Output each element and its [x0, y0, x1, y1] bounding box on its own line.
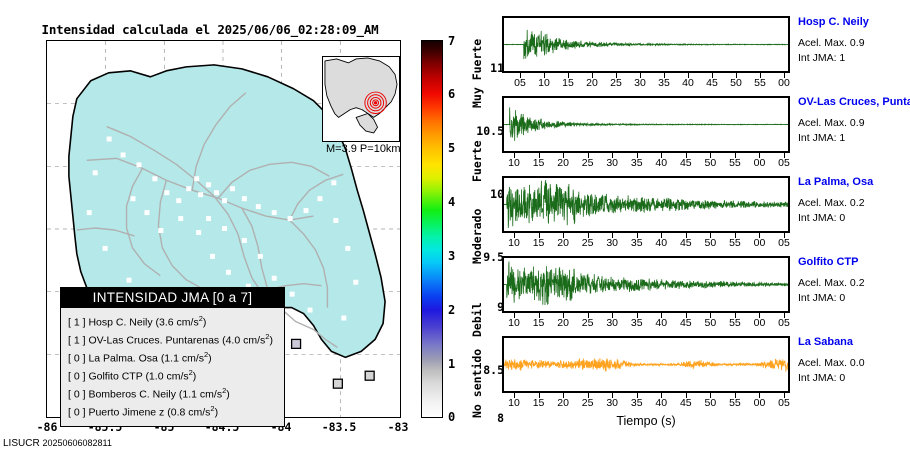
axis-tick-label: 10 — [502, 397, 526, 409]
station-marker — [292, 339, 301, 348]
axis-tick-label: 10 — [532, 77, 556, 89]
colorbar-tick: 3 — [448, 249, 455, 263]
axis-tick-label: 10 — [502, 317, 526, 329]
colorbar-tick: 2 — [448, 303, 455, 317]
legend-station: Puerto Jimene z — [88, 407, 164, 419]
station-info: La Palma, Osa Acel. Max. 0.2 Int JMA: 0 — [798, 176, 906, 226]
station-name: Hosp C. Neily — [798, 16, 906, 29]
axis-tick-label: 45 — [674, 397, 698, 409]
time-axis-label: Tiempo (s) — [502, 414, 790, 428]
axis-tick-label: 20 — [580, 77, 604, 89]
axis-tick-label: 25 — [576, 237, 600, 249]
seismogram-panel[interactable]: 101520253035404550550005 La Palma, Osa A… — [500, 176, 900, 256]
axis-tick-label: 45 — [674, 317, 698, 329]
waveform-plot[interactable] — [502, 256, 790, 313]
axis-tick-label: 45 — [700, 77, 724, 89]
legend-intensity: [ 0 ] — [68, 389, 86, 401]
map-xtick: -83.5 — [314, 420, 364, 434]
max-acceleration: Acel. Max. 0.9 — [798, 116, 906, 131]
axis-tick-label: 25 — [576, 397, 600, 409]
waveform-plot[interactable] — [502, 336, 790, 393]
time-axis: 101520253035404550550005 — [502, 393, 790, 413]
station-name: La Palma, Osa — [798, 176, 906, 189]
station-info: OV-Las Cruces, Puntar Acel. Max. 0.9 Int… — [798, 96, 906, 146]
legend-station: Hosp C. Neily — [88, 317, 152, 329]
legend-intensity: [ 0 ] — [68, 371, 86, 383]
axis-tick-label: 10 — [502, 157, 526, 169]
axis-tick-label: 55 — [723, 157, 747, 169]
axis-tick-label: 30 — [600, 237, 624, 249]
axis-tick-label: 50 — [698, 237, 722, 249]
axis-tick-label: 15 — [527, 397, 551, 409]
axis-tick-label: 20 — [551, 237, 575, 249]
time-axis: 101520253035404550550005 — [502, 313, 790, 333]
axis-tick-label: 25 — [576, 157, 600, 169]
legend-row: [ 0 ] La Palma. Osa (1.1 cm/s2) — [68, 348, 278, 366]
footer-agency: LISUCR — [3, 438, 40, 449]
axis-tick-label: 05 — [772, 157, 796, 169]
axis-tick-label: 15 — [527, 237, 551, 249]
legend-row: [ 0 ] Puerto Jimene z (0.8 cm/s2) — [68, 402, 278, 420]
legend-station: Golfito CTP — [88, 371, 142, 383]
axis-tick-label: 35 — [625, 397, 649, 409]
map-ytick: 10.5 — [460, 124, 504, 138]
axis-tick-label: 05 — [772, 237, 796, 249]
axis-tick-label: 00 — [747, 237, 771, 249]
axis-tick-label: 00 — [772, 77, 796, 89]
axis-tick-label: 30 — [600, 397, 624, 409]
legend-accel: (0.8 cm/s — [167, 407, 210, 419]
legend-intensity: [ 1 ] — [68, 335, 86, 347]
axis-tick-label: 50 — [698, 317, 722, 329]
axis-tick-label: 15 — [556, 77, 580, 89]
colorbar-category: Debil — [470, 302, 484, 337]
legend-intensity: [ 0 ] — [68, 407, 86, 419]
axis-tick-label: 35 — [625, 317, 649, 329]
axis-tick-label: 45 — [674, 237, 698, 249]
axis-tick-label: 40 — [649, 397, 673, 409]
axis-tick-label: 55 — [723, 397, 747, 409]
footer: LISUCR 20250606082811 — [3, 438, 112, 449]
axis-tick-label: 30 — [600, 157, 624, 169]
colorbar-tick: 7 — [448, 34, 455, 48]
legend-intensity: [ 1 ] — [68, 317, 86, 329]
legend-tail: ) — [208, 353, 212, 365]
intensity-colorbar — [421, 40, 443, 418]
axis-tick-label: 15 — [527, 157, 551, 169]
axis-tick-label: 35 — [625, 237, 649, 249]
axis-tick-label: 25 — [576, 317, 600, 329]
axis-tick-label: 40 — [649, 317, 673, 329]
colorbar-tick: 0 — [448, 410, 455, 424]
legend-accel: (1.0 cm/s — [145, 371, 188, 383]
legend-accel: (4.0 cm/s — [222, 335, 265, 347]
legend-rows: [ 1 ] Hosp C. Neily (3.6 cm/s2) [ 1 ] OV… — [61, 308, 284, 426]
legend-row: [ 1 ] OV-Las Cruces. Puntarenas (4.0 cm/… — [68, 330, 278, 348]
jma-intensity: Int JMA: 0 — [798, 211, 906, 226]
seismogram-panel-group: 051015202530354045505500 Hosp C. Neily A… — [500, 16, 900, 416]
legend-accel: (1.1 cm/s — [161, 353, 204, 365]
legend-station: La Palma. Osa — [88, 353, 157, 365]
colorbar-tick: 4 — [448, 195, 455, 209]
axis-tick-label: 00 — [747, 157, 771, 169]
axis-tick-label: 55 — [723, 237, 747, 249]
legend-tail: ) — [269, 335, 273, 347]
axis-tick-label: 40 — [676, 77, 700, 89]
axis-tick-label: 40 — [649, 157, 673, 169]
legend-station: Bomberos C. Neily — [88, 389, 176, 401]
station-marker — [365, 371, 374, 380]
axis-tick-label: 00 — [747, 317, 771, 329]
jma-intensity: Int JMA: 0 — [798, 291, 906, 306]
station-info: La Sabana Acel. Max. 0.0 Int JMA: 0 — [798, 336, 906, 386]
max-acceleration: Acel. Max. 0.2 — [798, 196, 906, 211]
legend-intensity: [ 0 ] — [68, 353, 86, 365]
seismogram-panel[interactable]: 101520253035404550550005 Golfito CTP Ace… — [500, 256, 900, 336]
colorbar-category: No sentido — [470, 349, 484, 418]
magnitude-depth-label: M=3.9 P=10km — [326, 143, 401, 155]
axis-tick-label: 00 — [747, 397, 771, 409]
time-axis: 101520253035404550550005 — [502, 233, 790, 253]
jma-intensity: Int JMA: 1 — [798, 131, 906, 146]
intensity-legend: INTENSIDAD JMA [0 a 7] [ 1 ] Hosp C. Nei… — [60, 287, 285, 427]
max-acceleration: Acel. Max. 0.9 — [798, 36, 906, 51]
max-acceleration: Acel. Max. 0.2 — [798, 276, 906, 291]
axis-tick-label: 30 — [628, 77, 652, 89]
colorbar-tick: 5 — [448, 141, 455, 155]
axis-tick-label: 50 — [698, 397, 722, 409]
legend-tail: ) — [203, 317, 207, 329]
seismogram-panel[interactable]: 051015202530354045505500 Hosp C. Neily A… — [500, 16, 900, 96]
axis-tick-label: 45 — [674, 157, 698, 169]
waveform-plot[interactable] — [502, 176, 790, 233]
waveform-plot[interactable] — [502, 96, 790, 153]
waveform-plot[interactable] — [502, 16, 790, 73]
axis-tick-label: 55 — [748, 77, 772, 89]
legend-title: INTENSIDAD JMA [0 a 7] — [61, 288, 284, 308]
seismogram-panel[interactable]: 101520253035404550550005 La Sabana Acel.… — [500, 336, 900, 416]
map-ytick: 10 — [460, 187, 504, 201]
legend-row: [ 1 ] Hosp C. Neily (3.6 cm/s2) — [68, 312, 278, 330]
station-info: Golfito CTP Acel. Max. 0.2 Int JMA: 0 — [798, 256, 906, 306]
jma-intensity: Int JMA: 1 — [798, 51, 906, 66]
colorbar-category: Muy Fuerte — [470, 39, 484, 108]
page-title: Intensidad calculada el 2025/06/06_02:28… — [0, 22, 420, 37]
axis-tick-label: 15 — [527, 317, 551, 329]
locator-inset-map[interactable] — [322, 56, 400, 142]
time-axis: 051015202530354045505500 — [502, 73, 790, 93]
axis-tick-label: 40 — [649, 237, 673, 249]
axis-tick-label: 35 — [652, 77, 676, 89]
axis-tick-label: 20 — [551, 157, 575, 169]
station-name: La Sabana — [798, 336, 906, 349]
axis-tick-label: 50 — [724, 77, 748, 89]
colorbar-category: Fuerte — [470, 140, 484, 182]
legend-tail: ) — [215, 407, 219, 419]
legend-row: [ 0 ] Bomberos C. Neily (1.1 cm/s2) — [68, 384, 278, 402]
seismogram-panel[interactable]: 101520253035404550550005 OV-Las Cruces, … — [500, 96, 900, 176]
axis-tick-label: 55 — [723, 317, 747, 329]
legend-row: [ 0 ] Golfito CTP (1.0 cm/s2) — [68, 366, 278, 384]
jma-intensity: Int JMA: 0 — [798, 371, 906, 386]
legend-accel: (1.1 cm/s — [179, 389, 222, 401]
colorbar-tick: 6 — [448, 87, 455, 101]
legend-accel: (3.6 cm/s — [156, 317, 199, 329]
legend-station: OV-Las Cruces. Puntarenas — [88, 335, 219, 347]
legend-tail: ) — [193, 371, 197, 383]
max-acceleration: Acel. Max. 0.0 — [798, 356, 906, 371]
axis-tick-label: 05 — [508, 77, 532, 89]
axis-tick-label: 50 — [698, 157, 722, 169]
legend-tail: ) — [226, 389, 230, 401]
axis-tick-label: 25 — [604, 77, 628, 89]
station-info: Hosp C. Neily Acel. Max. 0.9 Int JMA: 1 — [798, 16, 906, 66]
station-name: Golfito CTP — [798, 256, 906, 269]
colorbar-gradient — [421, 40, 443, 418]
axis-tick-label: 05 — [772, 397, 796, 409]
station-marker — [333, 379, 342, 388]
map-xtick: -83 — [373, 420, 423, 434]
axis-tick-label: 35 — [625, 157, 649, 169]
axis-tick-label: 30 — [600, 317, 624, 329]
time-axis: 101520253035404550550005 — [502, 153, 790, 173]
colorbar-category: Moderado — [470, 209, 484, 264]
inset-geometry — [323, 57, 399, 141]
colorbar-tick: 1 — [448, 357, 455, 371]
station-name: OV-Las Cruces, Puntar — [798, 96, 906, 109]
axis-tick-label: 20 — [551, 397, 575, 409]
axis-tick-label: 20 — [551, 317, 575, 329]
footer-code: 20250606082811 — [42, 438, 111, 448]
axis-tick-label: 05 — [772, 317, 796, 329]
axis-tick-label: 10 — [502, 237, 526, 249]
